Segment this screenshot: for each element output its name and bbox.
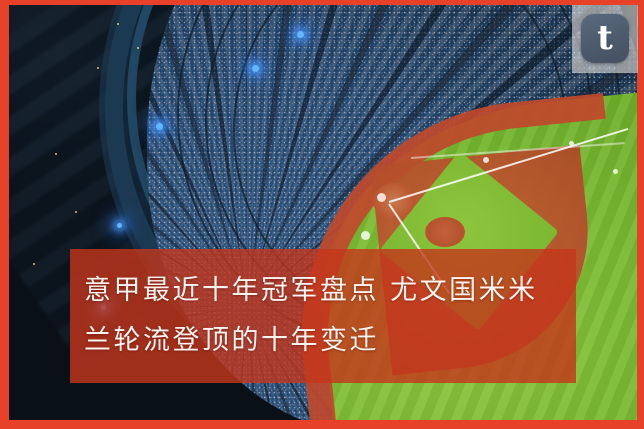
field-marker [483, 157, 489, 163]
border-left [0, 0, 9, 429]
distant-light-speck [55, 153, 57, 155]
distant-light-speck [33, 263, 35, 265]
tumblr-letter-t: t [597, 21, 613, 55]
tumblr-badge[interactable]: t [572, 5, 638, 73]
border-bottom [0, 420, 644, 429]
stadium-light-flare [156, 123, 163, 130]
distant-light-speck [75, 211, 77, 213]
field-marker [377, 193, 386, 202]
field-marker [569, 141, 574, 146]
stadium-light-flare [297, 31, 304, 38]
distant-light-speck [137, 47, 139, 49]
border-right [637, 0, 644, 429]
pitchers-mound [425, 217, 465, 247]
title-line-1: 意甲最近十年冠军盘点 尤文国米米 [84, 266, 562, 316]
cover-image-screenshot: 意甲最近十年冠军盘点 尤文国米米 兰轮流登顶的十年变迁 t [0, 0, 644, 429]
distant-light-speck [117, 23, 119, 25]
field-marker [613, 169, 618, 174]
stadium-light-flare [252, 65, 259, 72]
stadium-light-flare [117, 223, 122, 228]
border-top [0, 0, 644, 5]
title-line-2: 兰轮流登顶的十年变迁 [84, 316, 562, 366]
tumblr-icon[interactable]: t [581, 14, 629, 63]
field-marker [361, 231, 370, 240]
distant-light-speck [97, 67, 99, 69]
title-banner: 意甲最近十年冠军盘点 尤文国米米 兰轮流登顶的十年变迁 [70, 249, 576, 383]
